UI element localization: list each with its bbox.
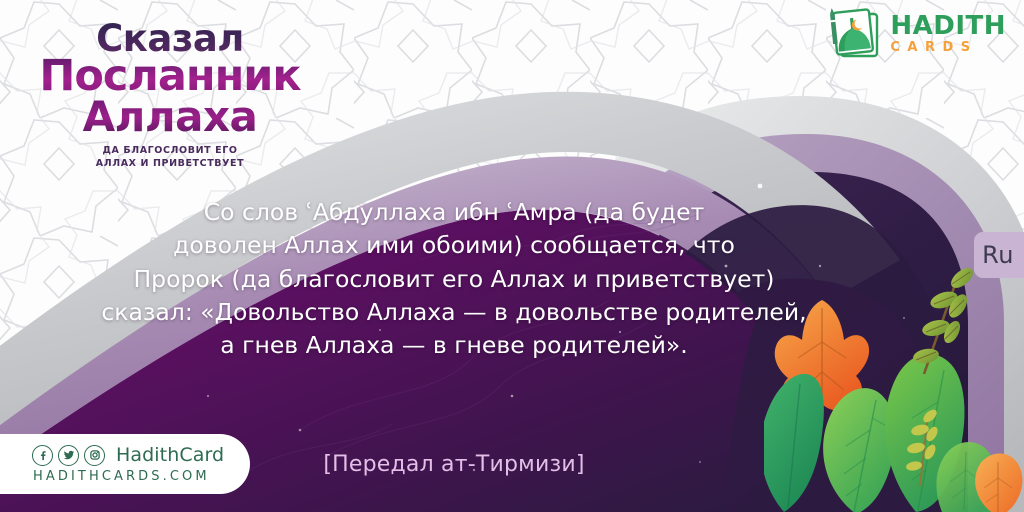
hadith-line: Со слов ʿАбдуллаха ибн ʿАмра (да будет: [54, 196, 854, 229]
subtitle-line-2: АЛЛАХ И ПРИВЕТСТВУЕТ: [0, 157, 340, 171]
language-badge-label: Ru: [982, 241, 1014, 269]
language-badge[interactable]: Ru: [974, 232, 1024, 278]
logo-cards-text: CARDS: [890, 41, 1006, 54]
hadith-line: сказал: «Довольство Аллаха — в довольств…: [54, 296, 854, 329]
facebook-icon[interactable]: [32, 445, 53, 466]
logo-wordmark: HADITH CARDS: [890, 13, 1006, 54]
instagram-icon[interactable]: [84, 445, 105, 466]
twitter-icon[interactable]: [58, 445, 79, 466]
footer-brand-pill[interactable]: HadithCard HADITHCARDS.COM: [0, 434, 250, 494]
footer-website: HADITHCARDS.COM: [33, 469, 250, 484]
subtitle-line-1: ДА БЛАГОСЛОВИТ ЕГО: [0, 144, 340, 158]
title-allah: Аллаха: [0, 96, 340, 139]
hadith-line: а гнев Аллаха — в гневе родителей».: [54, 329, 854, 362]
footer-social-row: HadithCard: [32, 444, 250, 466]
title-subtitle: ДА БЛАГОСЛОВИТ ЕГО АЛЛАХ И ПРИВЕТСТВУЕТ: [0, 144, 340, 172]
hadith-line: доволен Аллах ими обоими) сообщается, чт…: [54, 229, 854, 262]
hadith-line: Пророк (да благословит его Аллах и приве…: [54, 263, 854, 296]
hadith-text: Со слов ʿАбдуллаха ибн ʿАмра (да будет д…: [54, 196, 854, 363]
footer-brand-name: HadithCard: [116, 444, 224, 466]
title-block: Сказал Посланник Аллаха ДА БЛАГОСЛОВИТ Е…: [0, 20, 340, 171]
logo-hadith-text: HADITH: [890, 13, 1006, 39]
brand-logo[interactable]: HADITH CARDS: [827, 6, 1006, 60]
hadith-card: Сказал Посланник Аллаха ДА БЛАГОСЛОВИТ Е…: [0, 0, 1024, 512]
mosque-dome-cards-icon: [827, 6, 883, 60]
